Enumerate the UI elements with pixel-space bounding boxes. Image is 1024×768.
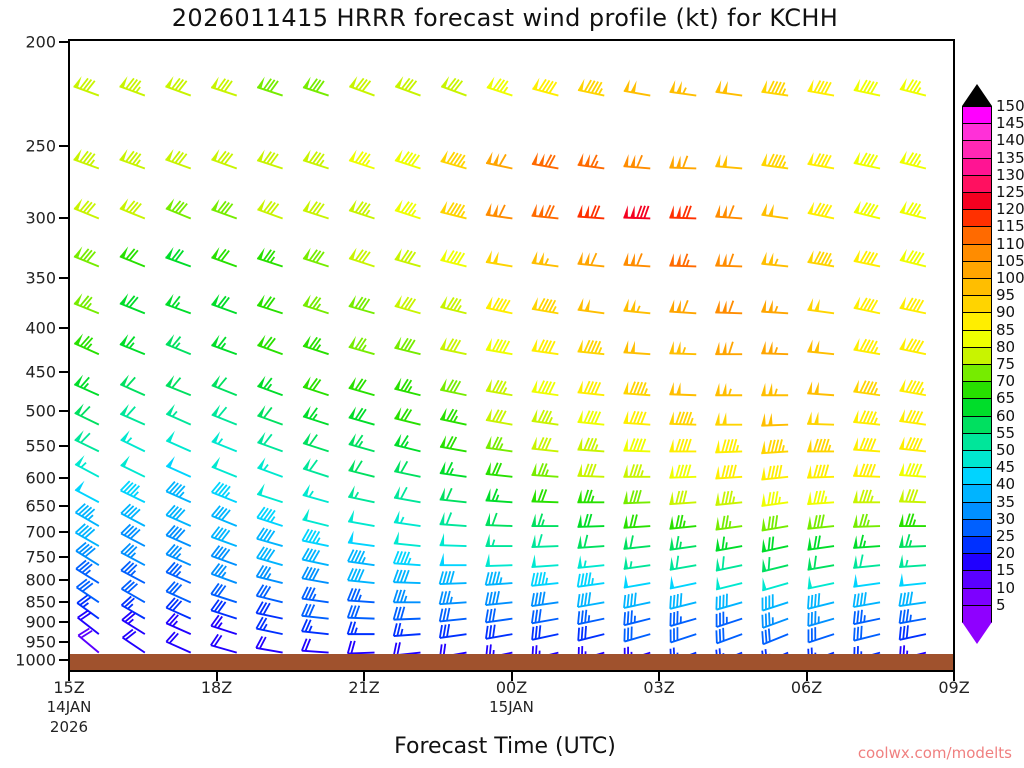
barb-full-tick — [726, 439, 729, 452]
y-axis-tick — [59, 277, 68, 279]
barb-full-tick — [172, 378, 180, 388]
wind-barb — [441, 76, 466, 95]
wind-barb — [211, 294, 236, 313]
wind-barb — [715, 491, 742, 505]
wind-barb — [440, 624, 467, 638]
barb-pennant — [257, 248, 265, 260]
wind-barb — [486, 408, 512, 424]
barb-shaft — [349, 347, 375, 354]
barb-pennant — [716, 577, 720, 590]
wind-barb — [715, 204, 742, 218]
barb-full-tick — [670, 596, 671, 609]
barb-pennant — [121, 456, 130, 467]
wind-barb — [899, 592, 926, 606]
wind-barb — [76, 543, 99, 566]
barb-full-tick — [624, 595, 625, 608]
wind-barb — [853, 514, 880, 527]
barb-full-tick — [538, 534, 542, 547]
barb-half-tick — [404, 596, 406, 602]
barb-full-tick — [634, 514, 637, 527]
barb-half-tick — [263, 624, 266, 630]
wind-barb — [302, 587, 329, 603]
wind-barb — [807, 515, 834, 529]
barb-full-tick — [172, 249, 180, 259]
barb-pennant — [669, 155, 673, 167]
plot-area — [68, 39, 955, 672]
wind-barb — [303, 150, 329, 169]
barb-half-tick — [362, 345, 366, 351]
barb-pennant — [257, 483, 265, 495]
barb-pennant — [349, 248, 357, 260]
barb-shaft — [394, 389, 420, 396]
wind-barb — [302, 567, 328, 583]
barb-pennant — [900, 201, 907, 213]
wind-barb — [440, 591, 467, 604]
barb-shaft — [303, 210, 329, 218]
wind-barb — [165, 247, 190, 266]
barb-pennant — [670, 557, 674, 570]
barb-pennant — [716, 538, 720, 551]
colorbar-cell — [962, 347, 992, 365]
barb-shaft — [440, 473, 467, 477]
barb-full-tick — [264, 509, 272, 520]
barb-full-tick — [313, 380, 321, 391]
wind-barb — [853, 555, 880, 568]
wind-barb — [854, 592, 880, 607]
wind-barb — [257, 294, 282, 313]
barb-pennant — [532, 251, 538, 263]
barb-full-tick — [80, 581, 90, 589]
barb-full-tick — [218, 586, 226, 597]
barb-full-tick — [814, 515, 817, 528]
barb-pennant — [440, 533, 444, 545]
barb-half-tick — [496, 495, 498, 501]
colorbar-cell — [962, 588, 992, 606]
barb-full-tick — [402, 78, 410, 88]
barb-full-tick — [582, 610, 583, 623]
barb-pennant — [761, 153, 767, 165]
barb-full-tick — [401, 487, 407, 499]
wind-barb — [624, 556, 651, 569]
x-axis-label: 06Z — [791, 678, 822, 697]
barb-half-tick — [917, 210, 921, 216]
barb-full-tick — [405, 153, 413, 164]
barb-full-tick — [166, 614, 175, 624]
barb-full-tick — [215, 507, 223, 517]
wind-barb — [807, 491, 834, 505]
wind-barb — [211, 527, 236, 546]
barb-full-tick — [408, 81, 416, 91]
colorbar-cell — [962, 484, 992, 502]
barb-shaft — [762, 583, 788, 590]
barb-pennant — [623, 536, 627, 549]
barb-full-tick — [82, 507, 92, 516]
wind-barb — [808, 627, 834, 642]
barb-full-tick — [362, 204, 370, 215]
barb-full-tick — [212, 506, 220, 516]
barb-pennant — [669, 299, 674, 311]
colorbar-tick-label: 5 — [996, 596, 1006, 614]
barb-pennant — [349, 377, 356, 389]
wind-barb — [532, 78, 558, 96]
barb-full-tick — [634, 490, 638, 503]
wind-barb — [532, 572, 559, 586]
barb-half-tick — [87, 303, 91, 308]
colorbar-tick-label: 30 — [996, 510, 1015, 528]
barb-full-tick — [124, 526, 133, 535]
barb-full-tick — [310, 297, 318, 308]
barb-half-tick — [546, 470, 548, 476]
barb-full-tick — [733, 439, 736, 452]
barb-pennant — [623, 438, 627, 450]
barb-full-tick — [218, 79, 226, 90]
barb-half-tick — [358, 595, 360, 601]
wind-barb — [212, 375, 237, 395]
barb-pennant — [768, 300, 773, 313]
wind-barb — [717, 612, 743, 627]
barb-full-tick — [779, 465, 782, 478]
barb-full-tick — [818, 465, 821, 478]
barb-full-tick — [637, 253, 642, 265]
barb-half-tick — [867, 520, 869, 527]
barb-full-tick — [211, 600, 219, 611]
barb-full-tick — [310, 408, 318, 419]
colorbar-cell — [962, 244, 992, 262]
barb-full-tick — [218, 485, 226, 495]
barb-half-tick — [680, 542, 681, 549]
wind-profile-chart: 2026011415 HRRR forecast wind profile (k… — [0, 0, 1024, 768]
barb-pennant — [854, 250, 860, 262]
barb-pennant — [486, 203, 492, 215]
barb-shaft — [348, 497, 374, 503]
barb-full-tick — [215, 565, 223, 575]
wind-barb — [120, 334, 145, 354]
barb-full-tick — [169, 564, 178, 574]
barb-full-tick — [169, 633, 178, 643]
barb-pennant — [854, 296, 860, 308]
barb-pennant — [899, 573, 903, 586]
barb-full-tick — [584, 514, 588, 527]
wind-barb — [899, 489, 926, 502]
barb-pennant — [303, 200, 311, 212]
wind-barb — [762, 537, 788, 552]
wind-barb — [761, 491, 788, 506]
wind-barb — [761, 465, 788, 480]
wind-barb — [120, 76, 145, 95]
barb-full-tick — [356, 78, 364, 88]
barb-full-tick — [218, 378, 226, 388]
barb-pennant — [584, 205, 589, 217]
barb-pennant — [578, 410, 583, 422]
wind-barb — [166, 526, 190, 547]
wind-barb — [302, 639, 329, 653]
barb-pennant — [349, 336, 356, 348]
barb-shaft — [807, 424, 834, 425]
barb-full-tick — [486, 592, 489, 605]
wind-barb — [121, 504, 145, 526]
barb-full-tick — [722, 516, 724, 529]
wind-barb — [394, 570, 421, 583]
wind-barb — [348, 550, 375, 566]
barb-half-tick — [726, 542, 727, 549]
y-axis-label: 900 — [25, 613, 56, 632]
barb-half-tick — [683, 88, 686, 94]
barb-full-tick — [267, 203, 275, 213]
colorbar-tick-label: 115 — [996, 217, 1024, 235]
barb-pennant — [578, 380, 583, 392]
wind-barb — [257, 432, 282, 451]
wind-barb — [532, 554, 559, 567]
barb-full-tick — [351, 641, 354, 654]
barb-pennant — [807, 516, 811, 529]
barb-shaft — [120, 384, 145, 395]
barb-pennant — [349, 150, 357, 162]
barb-half-tick — [595, 444, 597, 450]
barb-half-tick — [599, 347, 602, 353]
wind-barb — [532, 514, 559, 526]
wind-barb — [578, 514, 605, 527]
y-axis-tick — [59, 579, 68, 581]
barb-half-tick — [591, 496, 593, 502]
barb-pennant — [899, 514, 903, 526]
barb-full-tick — [486, 572, 489, 585]
barb-full-tick — [489, 625, 491, 638]
barb-full-tick — [860, 555, 863, 568]
barb-pennant — [120, 76, 128, 88]
barb-full-tick — [500, 81, 508, 92]
barb-half-tick — [450, 468, 453, 474]
barb-pennant — [670, 80, 676, 92]
barb-full-tick — [125, 598, 135, 607]
barb-half-tick — [85, 570, 90, 574]
wind-barb — [166, 562, 190, 583]
barb-half-tick — [172, 411, 176, 416]
barb-full-tick — [447, 624, 449, 637]
barb-full-tick — [211, 615, 219, 626]
barb-full-tick — [270, 81, 278, 92]
wind-barb — [441, 150, 467, 168]
y-axis-label: 250 — [25, 136, 56, 155]
wind-barb — [394, 486, 420, 502]
barb-full-tick — [405, 203, 413, 214]
barb-pennant — [303, 150, 311, 162]
barb-half-tick — [355, 492, 358, 498]
barb-pennant — [715, 440, 719, 453]
colorbar-tick-label: 125 — [996, 183, 1024, 201]
wind-barb — [394, 623, 421, 636]
barb-full-tick — [84, 202, 92, 212]
wind-barb — [900, 625, 926, 640]
barb-full-tick — [122, 580, 132, 589]
colorbar-tick-label: 90 — [996, 303, 1015, 321]
barb-pennant — [120, 149, 128, 161]
barb-half-tick — [589, 615, 590, 622]
wind-barb — [486, 152, 512, 169]
barb-full-tick — [722, 492, 725, 505]
barb-full-tick — [628, 611, 629, 624]
barb-pennant — [899, 489, 903, 501]
barb-full-tick — [907, 625, 908, 638]
barb-pennant — [807, 298, 813, 310]
barb-pennant — [394, 407, 401, 419]
barb-full-tick — [225, 204, 233, 214]
wind-barb — [395, 76, 420, 95]
wind-barb — [486, 436, 513, 452]
barb-pennant — [538, 204, 543, 216]
wind-barb — [854, 79, 880, 96]
colorbar-tick-label: 150 — [996, 97, 1024, 115]
barb-half-tick — [131, 553, 136, 558]
barb-shaft — [532, 391, 559, 395]
barb-pennant — [676, 341, 680, 353]
barb-full-tick — [176, 510, 185, 520]
barb-full-tick — [536, 626, 537, 639]
wind-barb — [440, 408, 466, 425]
wind-barb — [900, 296, 926, 313]
barb-full-tick — [172, 337, 180, 347]
barb-full-tick — [87, 81, 95, 91]
colorbar-cell — [962, 364, 992, 382]
y-axis-tick — [59, 477, 68, 479]
barb-pennant — [624, 575, 628, 588]
barb-full-tick — [857, 610, 858, 623]
wind-barb — [900, 379, 926, 395]
barb-full-tick — [808, 596, 809, 609]
wind-barb — [486, 296, 512, 313]
barb-pennant — [395, 76, 403, 88]
barb-pennant — [900, 379, 906, 391]
barb-pennant — [807, 411, 811, 423]
wind-barb — [532, 609, 558, 623]
wind-barb — [166, 456, 190, 477]
barb-full-tick — [173, 528, 182, 538]
barb-shaft — [716, 92, 743, 96]
wind-barb — [440, 435, 466, 451]
barb-half-tick — [910, 615, 911, 622]
barb-full-tick — [215, 601, 223, 612]
barb-half-tick — [828, 260, 831, 266]
barb-full-tick — [443, 591, 446, 604]
barb-full-tick — [121, 504, 130, 513]
colorbar-legend: 5101520253035404550556065707580859095100… — [962, 84, 1024, 654]
barb-shaft — [762, 565, 788, 571]
wind-barb — [578, 626, 604, 641]
barb-full-tick — [87, 252, 95, 262]
wind-barb — [761, 299, 788, 313]
barb-pennant — [722, 155, 727, 167]
wind-barb — [623, 299, 650, 314]
barb-full-tick — [499, 205, 505, 217]
barb-pennant — [899, 437, 904, 449]
barb-full-tick — [79, 562, 89, 570]
barb-full-tick — [637, 490, 641, 503]
barb-full-tick — [535, 573, 538, 586]
y-axis-label: 400 — [25, 319, 56, 338]
barb-full-tick — [267, 298, 275, 309]
wind-barb — [578, 437, 605, 451]
wind-barb — [899, 437, 926, 452]
barb-full-tick — [733, 465, 736, 478]
barb-full-tick — [539, 609, 541, 622]
barb-full-tick — [729, 439, 732, 452]
barb-shaft — [532, 421, 559, 425]
barb-shaft — [349, 444, 375, 451]
barb-full-tick — [121, 561, 130, 570]
barb-full-tick — [864, 592, 866, 605]
y-axis-label: 350 — [25, 269, 56, 288]
x-axis-label: 00Z — [496, 678, 527, 697]
barb-pennant — [440, 378, 446, 390]
barb-pennant — [854, 79, 860, 91]
barb-full-tick — [766, 630, 767, 643]
wind-barb — [761, 80, 788, 96]
wind-barb — [715, 300, 742, 313]
barb-full-tick — [486, 626, 488, 639]
y-axis-label: 550 — [25, 436, 56, 455]
barb-pennant — [349, 295, 356, 307]
barb-full-tick — [630, 535, 633, 548]
barb-full-tick — [674, 595, 675, 608]
barb-full-tick — [779, 439, 782, 452]
barb-full-tick — [814, 465, 817, 478]
barb-half-tick — [729, 389, 731, 395]
barb-full-tick — [222, 510, 230, 520]
barb-pennant — [853, 380, 859, 392]
barb-full-tick — [857, 593, 859, 606]
wind-barb — [854, 626, 880, 641]
barb-half-tick — [309, 626, 312, 632]
wind-barb — [166, 404, 190, 425]
barb-full-tick — [900, 610, 902, 623]
wind-barb — [349, 248, 374, 267]
barb-pennant — [493, 251, 499, 263]
colorbar-cell — [962, 416, 992, 434]
wind-barb — [899, 534, 926, 547]
wind-barb — [578, 298, 605, 313]
barb-full-tick — [769, 629, 770, 642]
barb-full-tick — [861, 610, 862, 623]
barb-full-tick — [267, 338, 275, 348]
barb-full-tick — [121, 524, 130, 533]
wind-barb — [900, 249, 926, 267]
barb-pennant — [900, 296, 906, 308]
x-axis-label: 15Z — [53, 678, 84, 697]
barb-pennant — [715, 492, 719, 505]
barb-full-tick — [76, 504, 86, 513]
colorbar-cell — [962, 502, 992, 520]
barb-pennant — [532, 489, 536, 501]
barb-pennant — [853, 490, 857, 502]
barb-half-tick — [637, 306, 640, 312]
barb-shaft — [211, 257, 236, 266]
colorbar-cell — [962, 312, 992, 330]
barb-full-tick — [722, 466, 725, 479]
barb-full-tick — [857, 627, 858, 640]
barb-full-tick — [267, 251, 275, 262]
barb-full-tick — [166, 482, 175, 492]
barb-full-tick — [175, 251, 183, 261]
barb-full-tick — [397, 607, 401, 620]
barb-full-tick — [496, 591, 499, 604]
wind-barb — [440, 201, 466, 219]
wind-barb — [669, 341, 696, 354]
barb-half-tick — [316, 304, 320, 309]
barb-full-tick — [129, 153, 137, 163]
barb-half-tick — [775, 306, 777, 312]
barb-pennant — [722, 300, 726, 312]
wind-barb — [762, 557, 788, 572]
wind-barb — [761, 341, 788, 354]
